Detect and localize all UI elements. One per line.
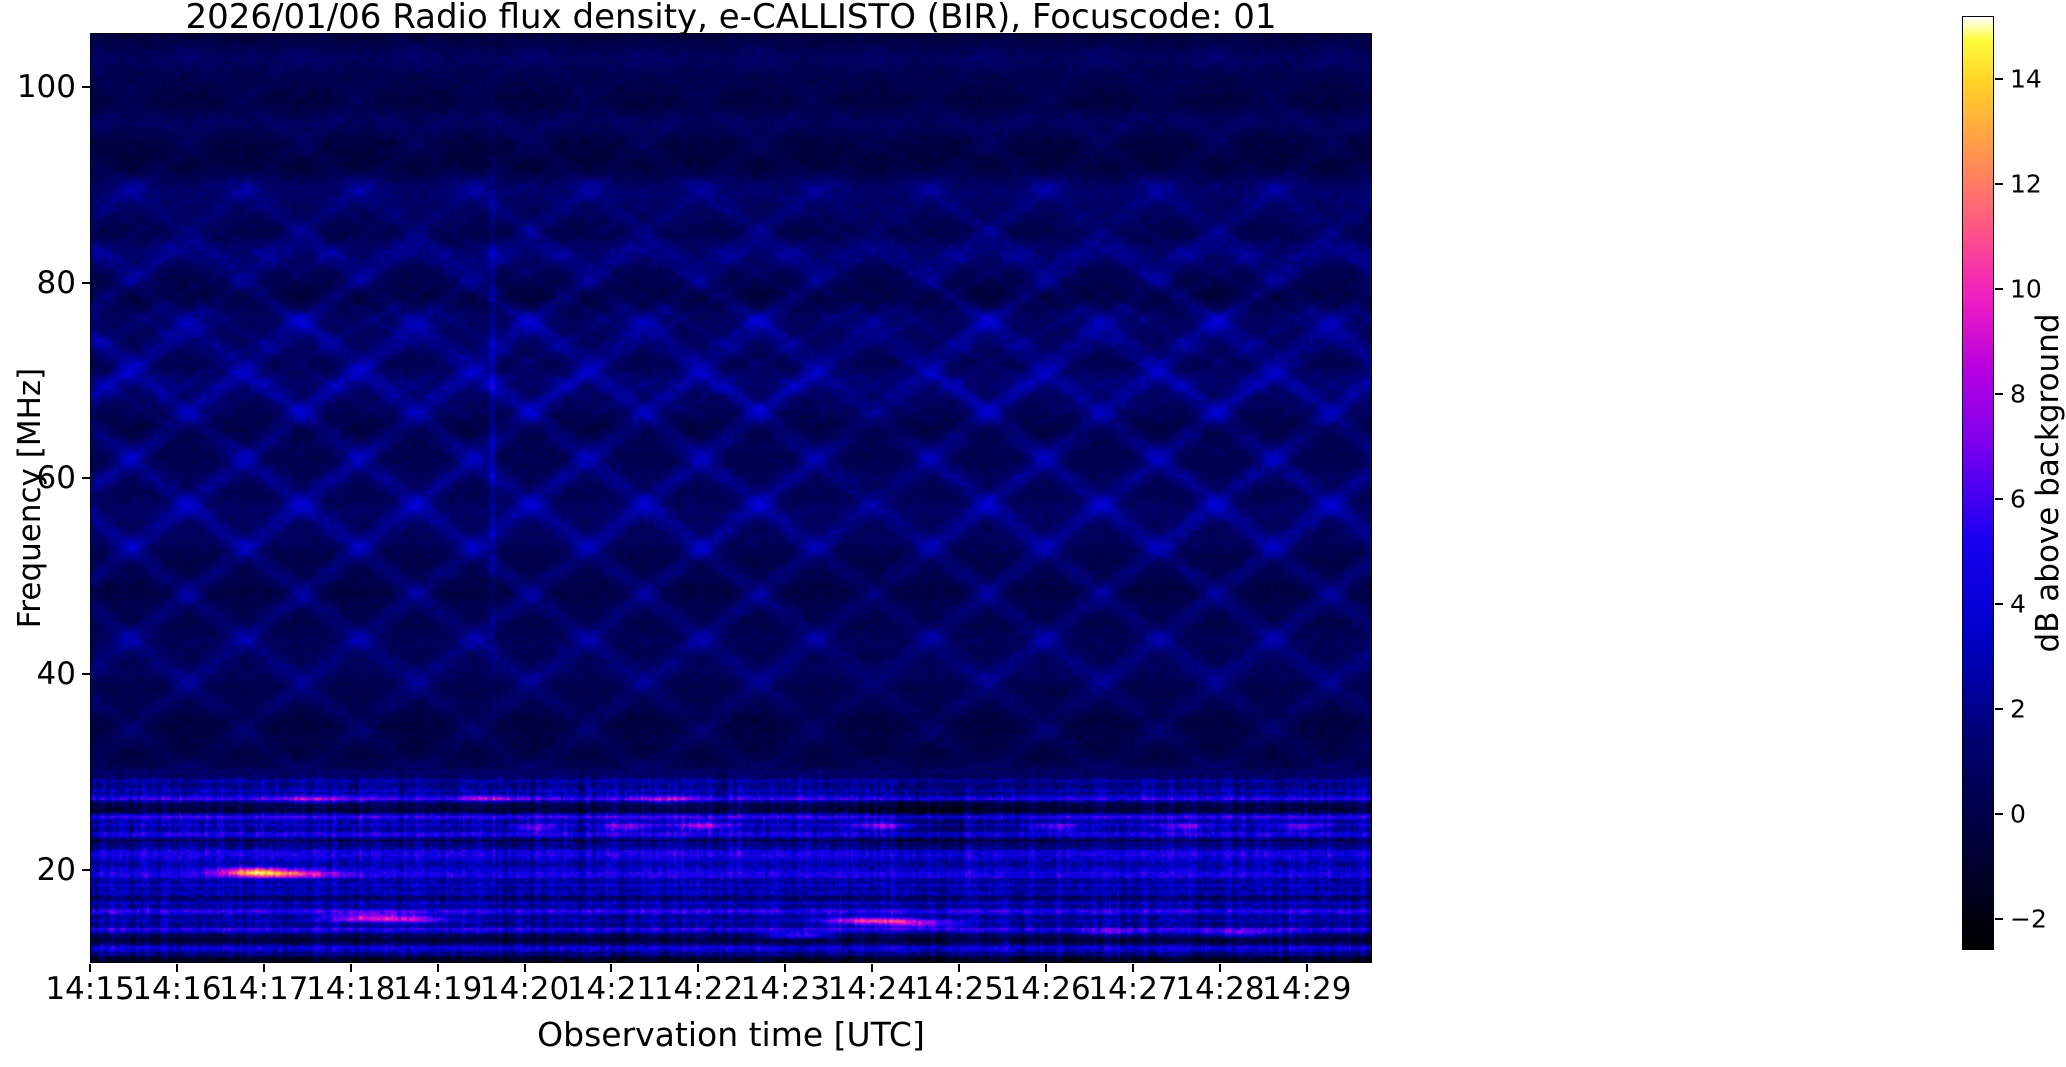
y-tick-label-100: 100 — [17, 69, 76, 105]
x-tick-mark-14-27 — [1132, 964, 1134, 972]
spectrogram-axes[interactable] — [90, 33, 1372, 963]
x-tick-mark-14-21 — [610, 964, 612, 972]
colorbar-tick-label-7: 12 — [2010, 169, 2042, 198]
y-tick-mark-80 — [82, 282, 90, 284]
y-tick-mark-20 — [82, 869, 90, 871]
colorbar-tick-label-1: 0 — [2010, 799, 2026, 828]
x-tick-mark-14-15 — [89, 964, 91, 972]
colorbar-tick-mark-7 — [1995, 183, 2003, 185]
colorbar-tick-label-3: 4 — [2010, 589, 2026, 618]
colorbar-tick-mark-5 — [1995, 393, 2003, 395]
x-tick-label-14-20: 14:20 — [480, 971, 569, 1007]
y-axis-label: Frequency [MHz] — [12, 368, 48, 629]
colorbar-tick-label-4: 6 — [2010, 484, 2026, 513]
y-tick-mark-100 — [82, 86, 90, 88]
x-tick-label-14-18: 14:18 — [306, 971, 395, 1007]
x-tick-label-14-28: 14:28 — [1175, 971, 1264, 1007]
x-tick-label-14-22: 14:22 — [654, 971, 743, 1007]
x-tick-mark-14-20 — [524, 964, 526, 972]
y-tick-label-20: 20 — [37, 852, 76, 888]
x-tick-label-14-29: 14:29 — [1262, 971, 1351, 1007]
y-tick-mark-60 — [82, 477, 90, 479]
x-tick-mark-14-18 — [350, 964, 352, 972]
colorbar-tick-mark-2 — [1995, 708, 2003, 710]
x-tick-label-14-27: 14:27 — [1088, 971, 1177, 1007]
colorbar-tick-mark-3 — [1995, 603, 2003, 605]
colorbar-tick-label-6: 10 — [2010, 274, 2042, 303]
colorbar-tick-label-2: 2 — [2010, 694, 2026, 723]
x-tick-label-14-21: 14:21 — [567, 971, 656, 1007]
page-title: 2026/01/06 Radio flux density, e-CALLIST… — [90, 0, 1372, 36]
x-tick-label-14-19: 14:19 — [393, 971, 482, 1007]
colorbar-tick-mark-6 — [1995, 288, 2003, 290]
x-tick-mark-14-23 — [784, 964, 786, 972]
x-tick-label-14-17: 14:17 — [219, 971, 308, 1007]
x-tick-mark-14-22 — [697, 964, 699, 972]
x-tick-mark-14-25 — [958, 964, 960, 972]
x-tick-label-14-26: 14:26 — [1001, 971, 1090, 1007]
colorbar-tick-label-5: 8 — [2010, 379, 2026, 408]
colorbar-tick-mark-8 — [1995, 78, 2003, 80]
y-tick-mark-40 — [82, 673, 90, 675]
colorbar-tick-label-8: 14 — [2010, 64, 2042, 93]
x-axis-label: Observation time [UTC] — [90, 1015, 1372, 1054]
colorbar-label: dB above background — [2030, 313, 2066, 652]
colorbar-tick-label-0: −2 — [2010, 904, 2047, 933]
colorbar-tick-mark-0 — [1995, 918, 2003, 920]
colorbar-tick-mark-1 — [1995, 813, 2003, 815]
x-tick-mark-14-26 — [1045, 964, 1047, 972]
figure-canvas: 2026/01/06 Radio flux density, e-CALLIST… — [0, 0, 2066, 1067]
y-tick-label-80: 80 — [37, 265, 76, 301]
x-tick-mark-14-29 — [1306, 964, 1308, 972]
x-tick-mark-14-28 — [1219, 964, 1221, 972]
spectrogram-image — [91, 34, 1372, 963]
x-tick-label-14-15: 14:15 — [45, 971, 134, 1007]
x-tick-label-14-16: 14:16 — [132, 971, 221, 1007]
x-tick-mark-14-17 — [263, 964, 265, 972]
colorbar-gradient — [1963, 17, 1993, 949]
x-tick-mark-14-24 — [871, 964, 873, 972]
x-tick-label-14-23: 14:23 — [741, 971, 830, 1007]
colorbar[interactable] — [1962, 16, 1994, 950]
x-tick-label-14-24: 14:24 — [828, 971, 917, 1007]
colorbar-tick-mark-4 — [1995, 498, 2003, 500]
x-tick-mark-14-16 — [176, 964, 178, 972]
x-tick-mark-14-19 — [437, 964, 439, 972]
x-tick-label-14-25: 14:25 — [914, 971, 1003, 1007]
y-tick-label-40: 40 — [37, 656, 76, 692]
